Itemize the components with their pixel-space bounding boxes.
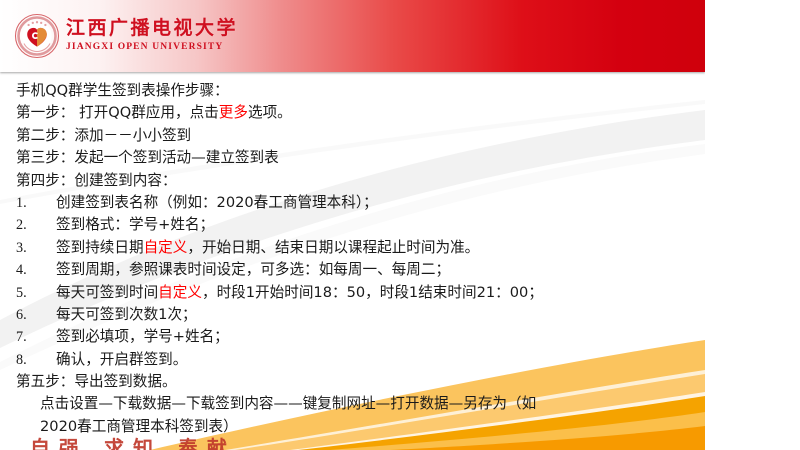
numbered-item-5-text: 每天可签到时间自定义，时段1开始时间18：50，时段1结束时间21：00；	[56, 282, 702, 304]
numbered-item-1-text: 创建签到表名称（例如：2020春工商管理本科）；	[56, 192, 702, 214]
numbered-item-3: 3. 签到持续日期自定义，开始日期、结束日期以课程起止时间为准。	[16, 237, 702, 259]
numbered-item-5-before: 每天可签到时间	[56, 284, 158, 301]
presentation-slide: 江西广播电视大学 JIANGXI OPEN UNIVERSITY 手机QQ群学生…	[0, 0, 800, 450]
step-3-before: 发起一个签到活动—建立签到表	[74, 149, 278, 166]
numbered-item-3-text: 签到持续日期自定义，开始日期、结束日期以课程起止时间为准。	[56, 237, 702, 259]
numbered-item-8: 8. 确认，开启群签到。	[16, 349, 702, 371]
step-1-label: 第一步：	[16, 104, 74, 121]
step-1-before: 打开QQ群应用，点击	[74, 104, 218, 121]
slide-canvas: 江西广播电视大学 JIANGXI OPEN UNIVERSITY 手机QQ群学生…	[0, 0, 705, 450]
step-5-detail-line-1: 点击设置—下载数据—下载签到内容——键复制网址—打开数据—另存为（如	[16, 393, 702, 415]
step-3-label: 第三步：	[16, 149, 74, 166]
numbered-item-4-text: 签到周期，参照课表时间设定，可多选：如每周一、每周二；	[56, 259, 702, 281]
brand-name-cn: 江西广播电视大学	[66, 16, 296, 40]
step-line-1: 第一步： 打开QQ群应用，点击更多选项。	[16, 102, 702, 124]
numbered-item-8-text: 确认，开启群签到。	[56, 349, 702, 371]
numbered-item-3-marker: 3.	[16, 237, 56, 259]
numbered-item-7: 7. 签到必填项，学号+姓名；	[16, 326, 702, 348]
numbered-item-7-text: 签到必填项，学号+姓名；	[56, 326, 702, 348]
step-line-3: 第三步：发起一个签到活动—建立签到表	[16, 147, 702, 169]
step-4-label: 第四步：	[16, 172, 74, 189]
numbered-item-5-after: ，时段1开始时间18：50，时段1结束时间21：00；	[202, 284, 543, 301]
brand-name-en: JIANGXI OPEN UNIVERSITY	[66, 41, 296, 54]
numbered-item-5-marker: 5.	[16, 282, 56, 304]
numbered-item-2: 2. 签到格式：学号+姓名；	[16, 214, 702, 236]
school-motto: 自强 求知 奉献	[30, 432, 236, 450]
content-title: 手机QQ群学生签到表操作步骤：	[16, 80, 702, 102]
numbered-item-2-marker: 2.	[16, 214, 56, 236]
numbered-item-6-text: 每天可签到次数1次；	[56, 304, 702, 326]
numbered-item-6: 6. 每天可签到次数1次；	[16, 304, 702, 326]
numbered-item-3-before: 签到持续日期	[56, 239, 144, 256]
step-line-2: 第二步：添加－－小小签到	[16, 125, 702, 147]
numbered-item-7-marker: 7.	[16, 326, 56, 348]
numbered-item-5-highlight: 自定义	[158, 284, 202, 301]
step-1-highlight: 更多	[219, 104, 248, 121]
step-line-5: 第五步：导出签到数据。	[16, 371, 702, 393]
numbered-item-3-after: ，开始日期、结束日期以课程起止时间为准。	[187, 239, 479, 256]
slide-body-text: 手机QQ群学生签到表操作步骤： 第一步： 打开QQ群应用，点击更多选项。 第二步…	[16, 80, 702, 438]
numbered-item-4-marker: 4.	[16, 259, 56, 281]
step-2-before: 添加－－小小签到	[74, 127, 191, 144]
numbered-item-6-marker: 6.	[16, 304, 56, 326]
step-5-text: 导出签到数据。	[74, 373, 176, 390]
numbered-item-8-marker: 8.	[16, 349, 56, 371]
numbered-item-2-text: 签到格式：学号+姓名；	[56, 214, 702, 236]
numbered-item-5: 5. 每天可签到时间自定义，时段1开始时间18：50，时段1结束时间21：00；	[16, 282, 702, 304]
step-4-before: 创建签到内容：	[74, 172, 176, 189]
step-2-label: 第二步：	[16, 127, 74, 144]
numbered-item-1-marker: 1.	[16, 192, 56, 214]
brand-block: 江西广播电视大学 JIANGXI OPEN UNIVERSITY	[66, 16, 296, 54]
numbered-item-4: 4. 签到周期，参照课表时间设定，可多选：如每周一、每周二；	[16, 259, 702, 281]
step-line-4: 第四步：创建签到内容：	[16, 170, 702, 192]
numbered-item-1: 1. 创建签到表名称（例如：2020春工商管理本科）；	[16, 192, 702, 214]
university-seal-icon	[14, 13, 60, 59]
step-1-after: 选项。	[248, 104, 292, 121]
numbered-item-3-highlight: 自定义	[144, 239, 188, 256]
step-5-label: 第五步：	[16, 373, 74, 390]
